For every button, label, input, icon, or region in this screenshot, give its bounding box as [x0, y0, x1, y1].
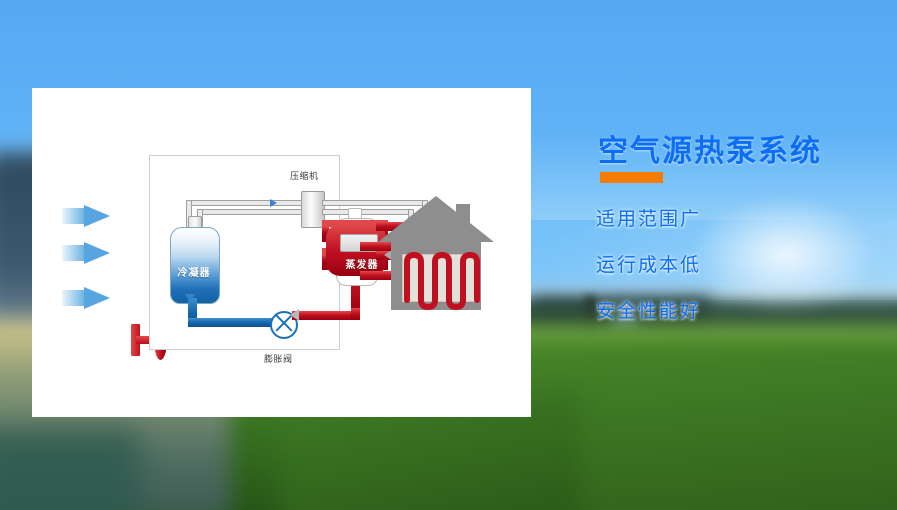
shadow-left	[0, 430, 140, 510]
airflow-arrow-tail-2	[62, 245, 84, 261]
title-underline	[600, 172, 663, 183]
compressor-label: 压缩机	[290, 169, 319, 182]
vapour-pipe-inner-left	[197, 209, 302, 215]
liquid-pipe-right	[188, 318, 280, 327]
airflow-arrow-2	[84, 242, 110, 264]
feature-list: 适用范围广 运行成本低 安全性能好	[596, 204, 701, 342]
list-item: 适用范围广	[596, 204, 701, 231]
page-title: 空气源热泵系统	[598, 126, 822, 170]
vapour-pipe-top-left	[186, 200, 302, 206]
floor-heating-coil-icon	[398, 246, 482, 310]
house-illustration	[378, 196, 494, 310]
airflow-arrow-3	[84, 287, 110, 309]
liquid-flow-arrow	[185, 294, 195, 302]
slide-canvas: 压缩机 冷凝器 膨胀阀	[0, 0, 897, 510]
airflow-arrow-1	[84, 205, 110, 227]
expansion-valve-label: 膨胀阀	[264, 352, 293, 365]
hot-pipe-corner	[351, 308, 360, 320]
list-item: 安全性能好	[596, 296, 701, 323]
roof	[378, 196, 494, 242]
flow-arrow-to-compressor	[270, 199, 277, 207]
airflow-arrow-tail-1	[62, 208, 84, 224]
hot-flow-arrow	[290, 309, 299, 321]
sun-glare	[690, 195, 880, 315]
refrigeration-cycle-frame: 压缩机 冷凝器 膨胀阀	[149, 155, 340, 350]
airflow-arrow-tail-3	[62, 290, 84, 306]
hot-pipe-from-valve	[292, 311, 360, 320]
list-item: 运行成本低	[596, 250, 701, 277]
condenser-label: 冷凝器	[170, 264, 218, 279]
